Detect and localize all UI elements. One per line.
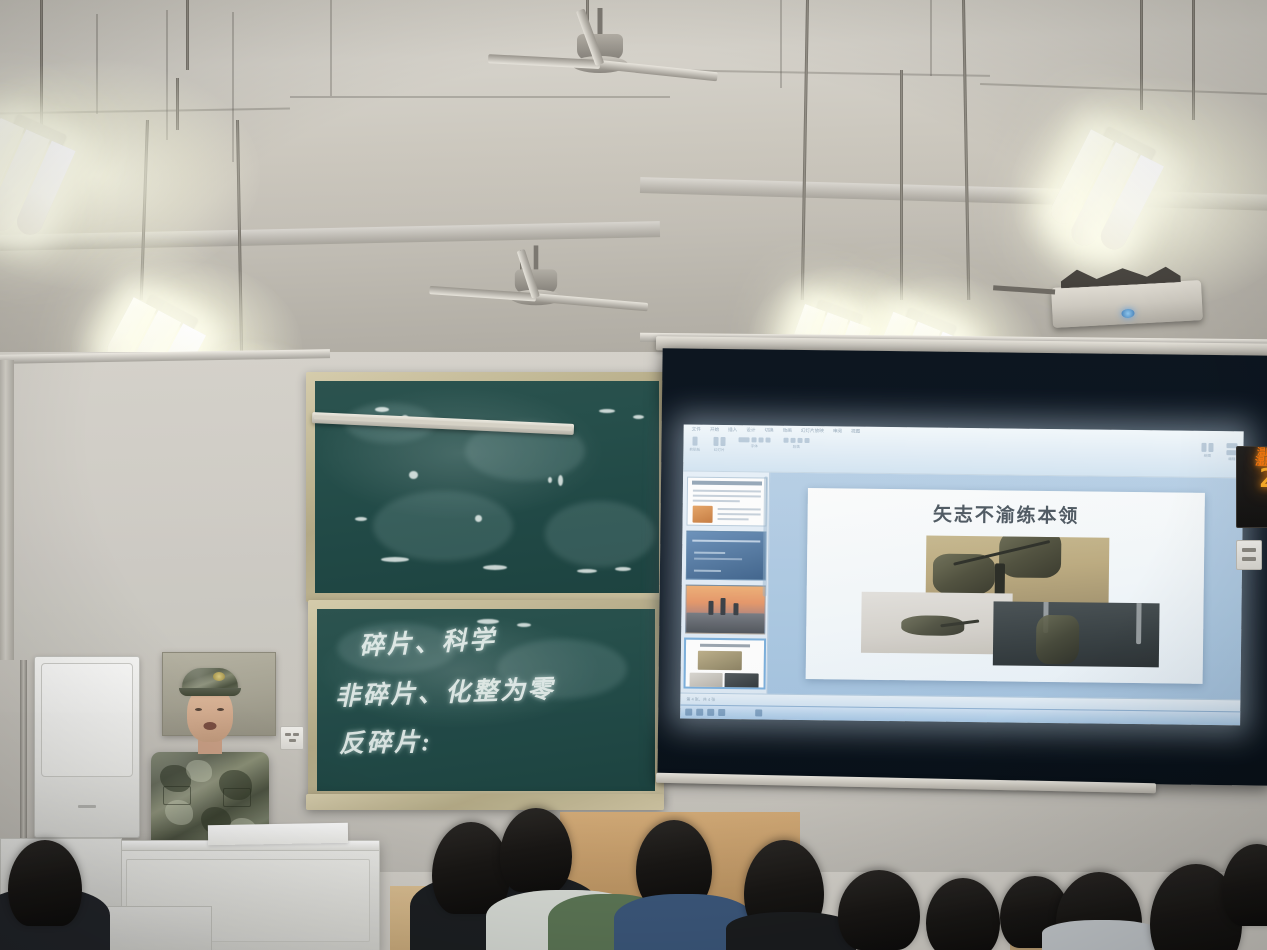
- taskbar-icon[interactable]: [707, 709, 714, 716]
- thumb-image: [686, 613, 764, 634]
- ppt-group-label: 编辑: [1228, 457, 1235, 462]
- ppt-ribbon-groups[interactable]: 剪贴板 幻灯片: [689, 437, 1237, 463]
- ppt-tab-file[interactable]: 文件: [692, 427, 701, 433]
- chalk-line-1: 碎片、科学: [358, 619, 497, 662]
- student-shoulders: [1042, 920, 1162, 950]
- cap-badge-icon: [213, 672, 225, 681]
- ppt-slide-thumbnails[interactable]: [680, 472, 770, 694]
- slide-thumbnail[interactable]: [686, 531, 767, 581]
- wall-power-outlet[interactable]: [280, 726, 304, 750]
- thumb-image: [689, 673, 722, 689]
- light-hanger-rod: [1140, 0, 1143, 110]
- ppt-tab-slideshow[interactable]: 幻灯片放映: [801, 428, 824, 434]
- chalkboard-upper-surface: [315, 381, 659, 593]
- soldier-figure: [999, 536, 1062, 579]
- chalkboard-lower-surface: 碎片、科学 非碎片、化整为零 反碎片:: [317, 609, 655, 791]
- ppt-group-label: 字体: [751, 444, 758, 449]
- ppt-group-label: 绘图: [1204, 454, 1211, 459]
- presenter-mouth: [204, 722, 217, 730]
- ppt-tab-view[interactable]: 视图: [851, 429, 860, 435]
- ac-panel: [41, 663, 133, 777]
- ceiling-projector: [1051, 280, 1203, 328]
- bullets-icon[interactable]: [783, 438, 788, 443]
- shapes-icon[interactable]: [1201, 443, 1206, 452]
- ppt-tab-transitions[interactable]: 切换: [764, 428, 773, 434]
- ppt-slide-counter: 第 4 张，共 4 张: [686, 696, 715, 702]
- powerpoint-window: 文件 开始 插入 设计 切换 动画 幻灯片放映 审阅 视图 剪贴板: [680, 425, 1244, 726]
- weapon-tripod: [995, 564, 1005, 597]
- ppt-group-label: 幻灯片: [714, 448, 725, 453]
- thumb-image: [693, 506, 713, 523]
- ppt-tab-review[interactable]: 审阅: [833, 428, 842, 434]
- low-crawl-photo: [861, 592, 1013, 655]
- chalkboard-lower-frame: 碎片、科学 非碎片、化整为零 反碎片:: [308, 600, 664, 800]
- ppt-group-clipboard[interactable]: 剪贴板: [689, 437, 700, 453]
- fan-downrod: [598, 8, 603, 36]
- current-slide[interactable]: 矢志不渝练本领: [805, 489, 1205, 684]
- student-head: [8, 840, 82, 926]
- ppt-tab-home[interactable]: 开始: [710, 427, 719, 433]
- ppt-body: 矢志不渝练本领: [680, 472, 1243, 700]
- light-hanger-rod: [900, 70, 903, 300]
- ppt-group-paragraph[interactable]: 段落: [783, 438, 809, 450]
- bar-upright: [1136, 601, 1142, 644]
- font-size-box[interactable]: [751, 437, 756, 442]
- taskbar-icon[interactable]: [755, 709, 762, 716]
- ppt-slide-stage[interactable]: 矢志不渝练本领: [767, 473, 1243, 700]
- student-head: [1222, 844, 1267, 926]
- presenter-camouflage-cap: [182, 668, 238, 692]
- font-name-box[interactable]: [738, 437, 749, 442]
- chalk-line-2: 非碎片、化整为零: [334, 669, 555, 713]
- ppt-tab-design[interactable]: 设计: [746, 427, 755, 433]
- slide-title: 矢志不渝练本领: [807, 498, 1205, 530]
- ppt-group-label: 剪贴板: [689, 448, 700, 453]
- ppt-ribbon[interactable]: 文件 开始 插入 设计 切换 动画 幻灯片放映 审阅 视图 剪贴板: [683, 425, 1244, 479]
- ppt-tab-insert[interactable]: 插入: [728, 427, 737, 433]
- hanging-soldier-figure: [1036, 614, 1080, 664]
- light-hanger-rod: [176, 78, 179, 130]
- audience-row: [0, 800, 1267, 950]
- led-clock-display: 温度 湿度 2: [1236, 446, 1267, 528]
- taskbar-icon[interactable]: [696, 709, 703, 716]
- led-row-3: 2: [1255, 467, 1267, 492]
- ppt-group-drawing[interactable]: 绘图: [1201, 443, 1213, 459]
- thumb-title-bar: [692, 481, 762, 486]
- slide-thumbnail-current[interactable]: [685, 639, 766, 689]
- bold-icon[interactable]: [758, 437, 763, 442]
- chalk-line-3: 反碎片:: [339, 722, 433, 760]
- cap-brim: [179, 688, 241, 696]
- numbering-icon[interactable]: [790, 438, 795, 443]
- projected-image: 文件 开始 插入 设计 切换 动画 幻灯片放映 审阅 视图 剪贴板: [680, 425, 1244, 726]
- student-shoulders: [726, 912, 856, 950]
- presenter-neck: [198, 740, 222, 754]
- layout-icon[interactable]: [720, 437, 725, 446]
- thumb-image: [724, 673, 759, 688]
- student-head: [838, 870, 920, 950]
- pullup-bar-photo: [992, 601, 1160, 668]
- thumbnail-scrollbar[interactable]: [763, 477, 768, 597]
- projection-screen-border: 文件 开始 插入 设计 切换 动画 幻灯片放映 审阅 视图 剪贴板: [657, 348, 1267, 785]
- fan-downrod: [534, 245, 539, 271]
- light-hanger-rod: [40, 0, 43, 128]
- student-head: [500, 808, 572, 892]
- align-left-icon[interactable]: [797, 438, 802, 443]
- slide-thumbnail[interactable]: [685, 585, 766, 635]
- ceiling-fan: [540, 34, 660, 74]
- paste-icon[interactable]: [692, 437, 697, 446]
- align-center-icon[interactable]: [804, 438, 809, 443]
- light-hanger-rod: [1192, 0, 1195, 120]
- led-digits: 温度 湿度 2: [1255, 449, 1267, 492]
- student-head: [926, 878, 1000, 950]
- projector-lens-indicator: [1121, 308, 1134, 318]
- light-hanger-rod: [186, 0, 189, 70]
- taskbar-icon[interactable]: [718, 709, 725, 716]
- chalkboard-upper-frame: [306, 372, 668, 602]
- left-doorframe: [0, 360, 14, 660]
- slide-thumbnail[interactable]: [686, 477, 767, 527]
- ppt-group-slides[interactable]: 幻灯片: [713, 437, 725, 453]
- italic-icon[interactable]: [765, 438, 770, 443]
- new-slide-icon[interactable]: [713, 437, 718, 446]
- start-menu-icon[interactable]: [685, 709, 692, 716]
- ppt-tab-animations[interactable]: 动画: [783, 428, 792, 434]
- wall-switch-panel[interactable]: [1236, 540, 1262, 570]
- classroom-photo: 碎片、科学 非碎片、化整为零 反碎片: 文件 开始 插入 设计 切换 动画: [0, 0, 1267, 950]
- ppt-group-font[interactable]: 字体: [738, 437, 770, 449]
- ppt-tab-strip[interactable]: 文件 开始 插入 设计 切换 动画 幻灯片放映 审阅 视图: [692, 427, 861, 435]
- arrange-icon[interactable]: [1208, 443, 1213, 452]
- ceiling-fan: [490, 269, 582, 300]
- thumb-image: [698, 651, 742, 671]
- ppt-group-label: 段落: [793, 445, 800, 450]
